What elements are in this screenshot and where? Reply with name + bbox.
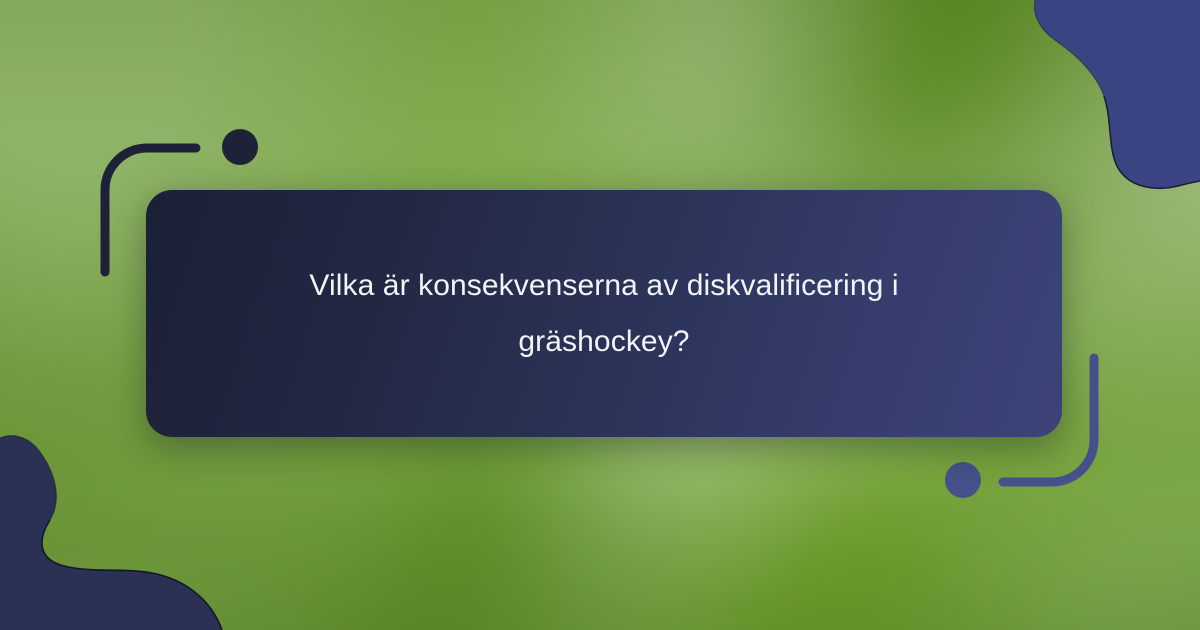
corner-blob-top-right [1034,0,1200,188]
dot-top-left [222,129,258,165]
question-card: Vilka är konsekvenserna av diskvalificer… [146,190,1062,437]
question-text: Vilka är konsekvenserna av diskvalificer… [234,258,974,370]
social-card-canvas: Vilka är konsekvenserna av diskvalificer… [0,0,1200,630]
dot-bottom-right [945,462,981,498]
corner-blob-bottom-left [0,436,222,630]
